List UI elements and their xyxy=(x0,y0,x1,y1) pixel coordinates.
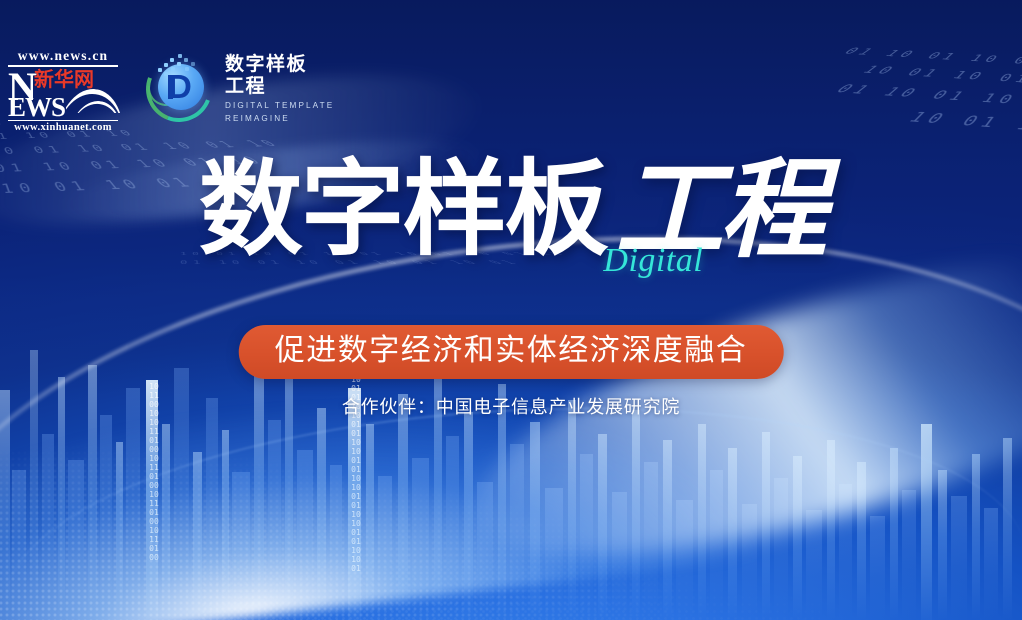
pixel-dots-icon xyxy=(158,54,198,80)
main-title-latin-accent: Digital xyxy=(603,244,703,278)
main-title: 数字样板 工程 Digital xyxy=(0,156,1022,264)
main-title-inner: 数字样板 工程 Digital xyxy=(199,156,823,264)
digital-template-logotype: 数字样板 工程 DIGITAL TEMPLATE REIMAGINE xyxy=(225,52,334,124)
project-name-en-line2: REIMAGINE xyxy=(225,113,334,124)
logo-row: www.news.cn N 新华网 EWS www.xinhuanet.com … xyxy=(8,48,334,133)
digital-template-banner: 01 10 10 01 10 01 10 01 10 01 10 01 10 0… xyxy=(0,0,1022,620)
xinhua-news-logo[interactable]: www.news.cn N 新华网 EWS www.xinhuanet.com xyxy=(8,48,118,133)
project-name-line1: 数字样板 xyxy=(225,54,334,76)
project-name-line2: 工程 xyxy=(225,76,334,98)
xinhua-news-word: EWS xyxy=(8,94,65,121)
partner-line: 合作伙伴：中国电子信息产业发展研究院 xyxy=(0,393,1022,419)
swish-icon xyxy=(66,83,122,113)
project-name-en-line1: DIGITAL TEMPLATE xyxy=(225,100,334,111)
subtitle-text: 促进数字经济和实体经济深度融合 xyxy=(275,334,748,368)
main-title-heavy: 数字样板 xyxy=(199,152,607,268)
partner-text: 合作伙伴：中国电子信息产业发展研究院 xyxy=(342,397,680,417)
digital-template-logomark: D xyxy=(144,52,216,124)
digital-template-logo[interactable]: D 数字样板 工程 DIGITAL TEMPLAT xyxy=(144,48,334,124)
xinhua-wordmark: N 新华网 EWS xyxy=(8,69,118,117)
halftone-dot-texture-secondary xyxy=(200,510,820,620)
subtitle-pill: 促进数字经济和实体经济深度融合 xyxy=(239,325,784,379)
